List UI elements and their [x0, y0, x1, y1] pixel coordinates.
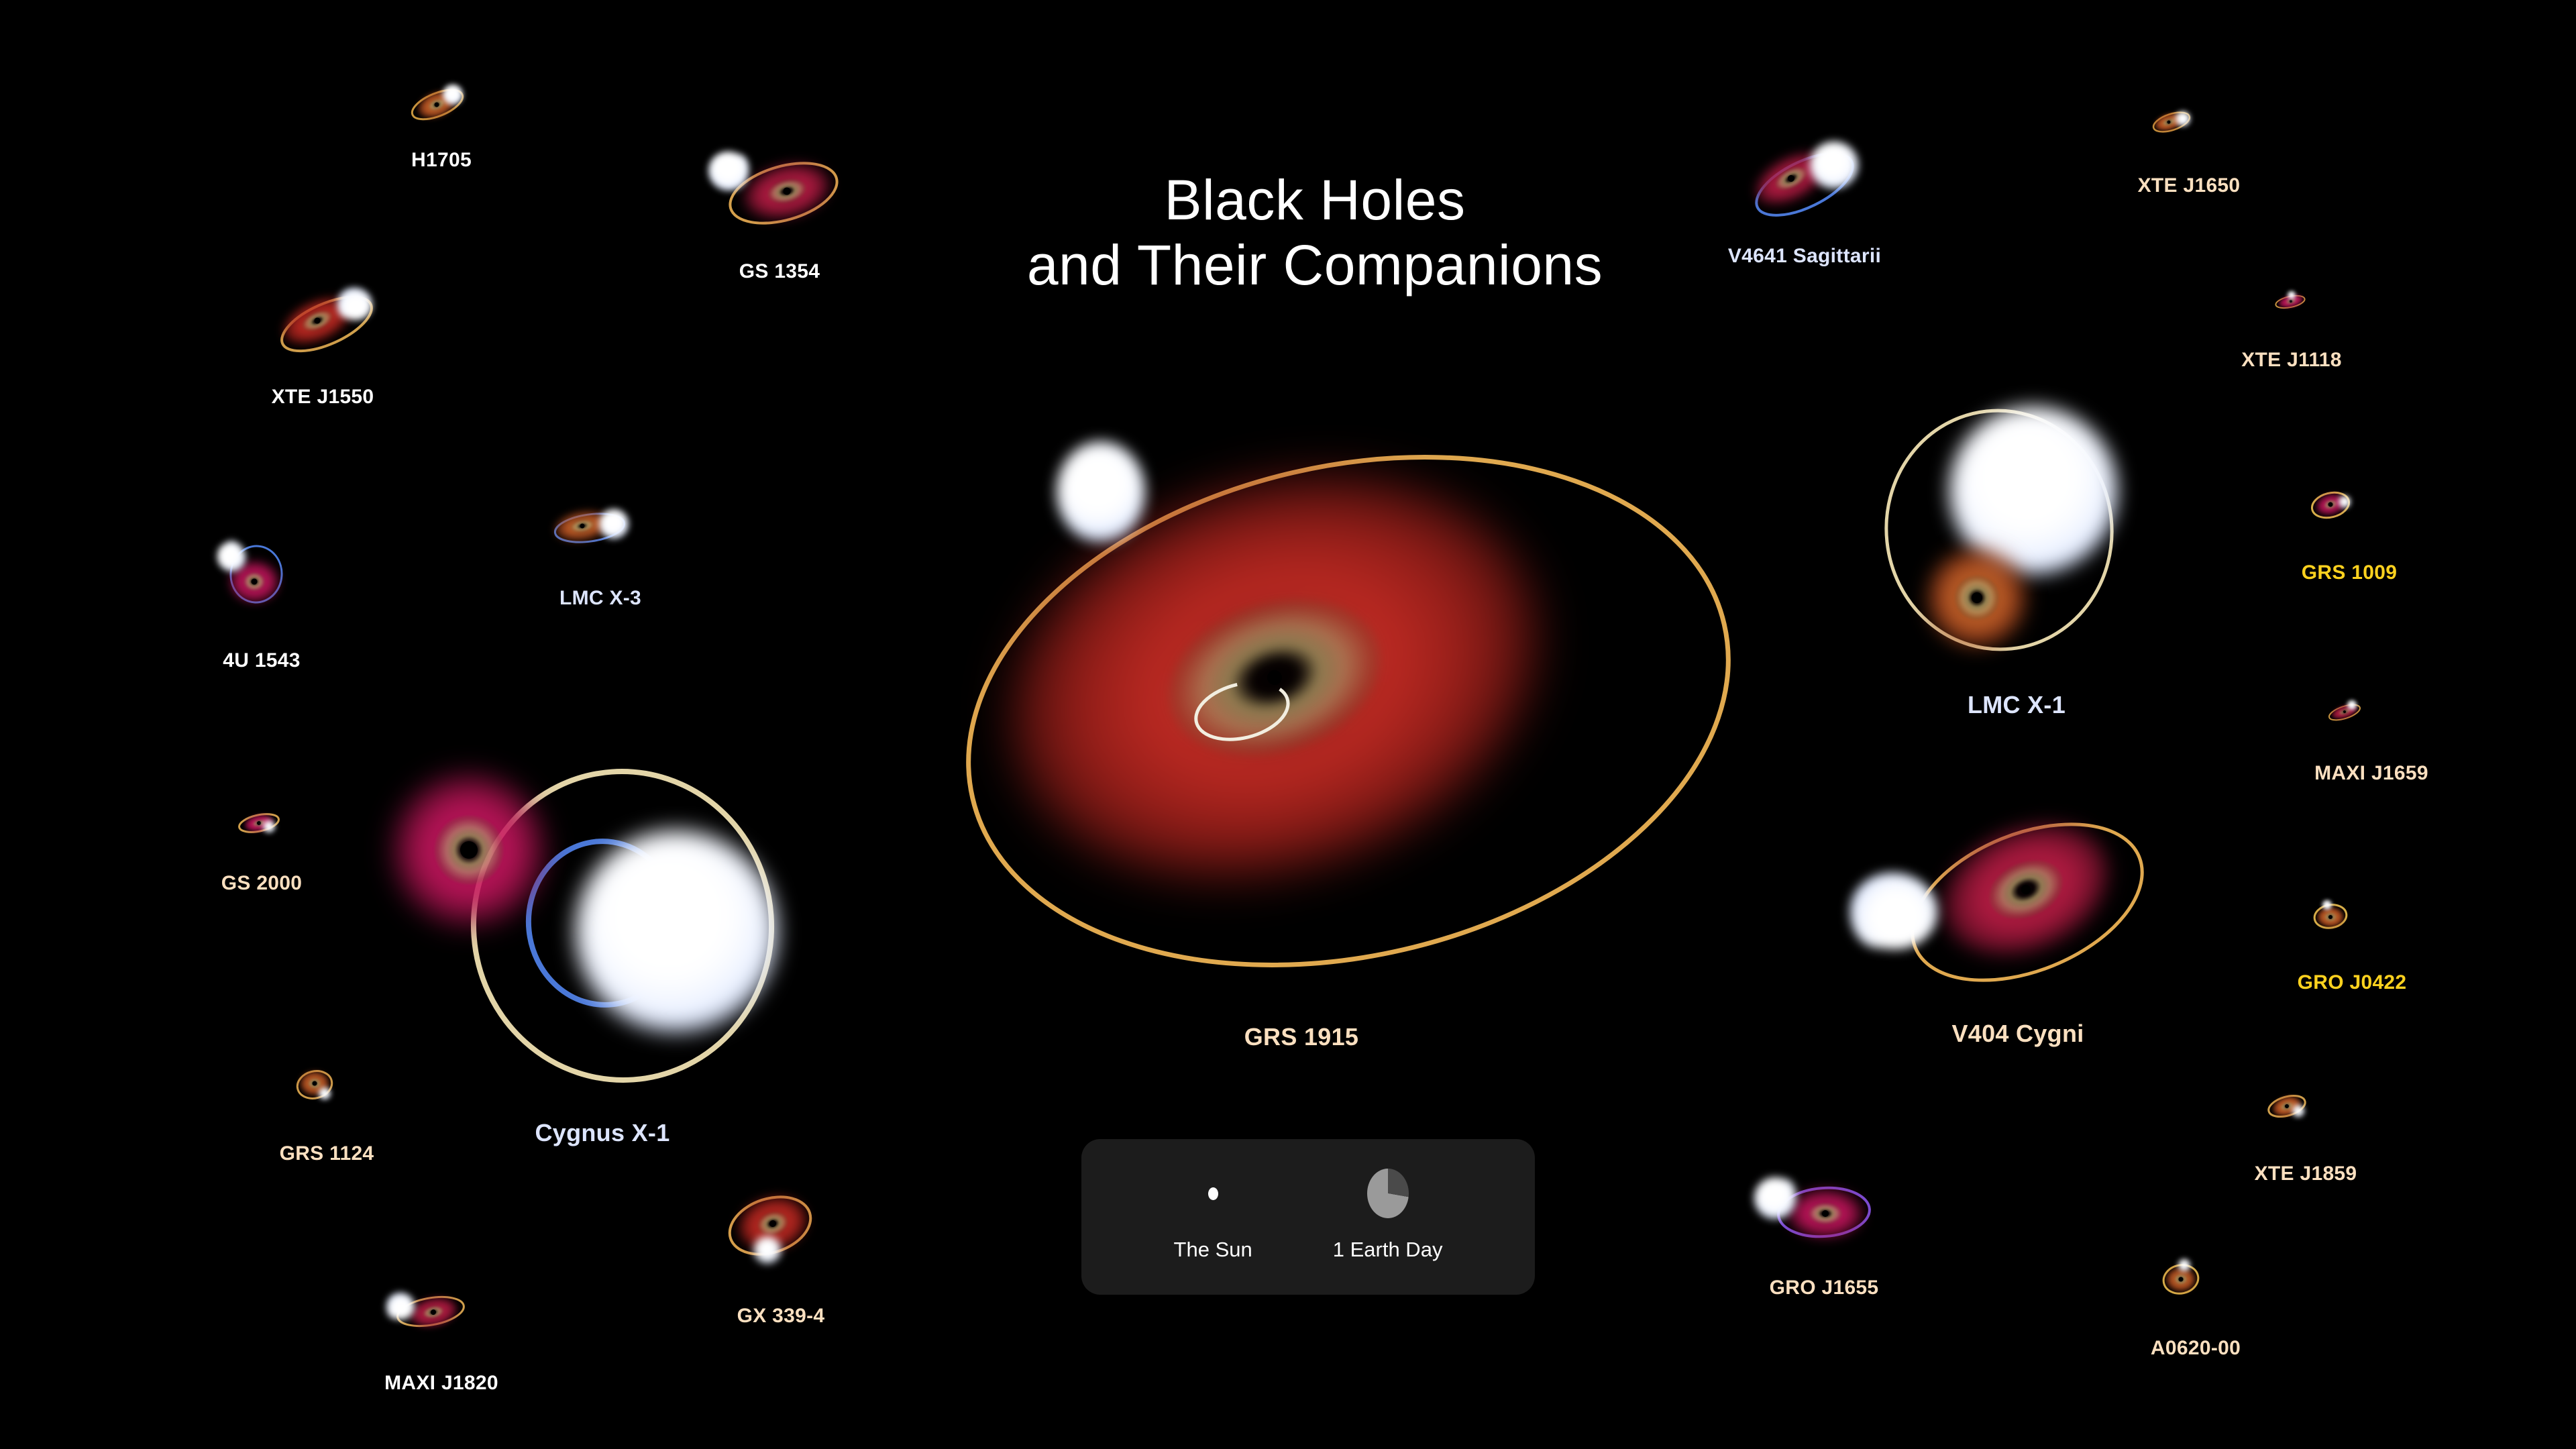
legend-item-earth-day: 1 Earth Day	[1333, 1172, 1443, 1262]
system-label: MAXI J1659	[2314, 762, 2428, 785]
system-v404-cygni[interactable]: V404 Cygni	[1831, 802, 2167, 1057]
system-xte-j1118[interactable]: XTE J1118	[2261, 282, 2341, 329]
system-label: XTE J1650	[2138, 174, 2241, 197]
scale-legend: The Sun 1 Earth Day	[1081, 1139, 1535, 1295]
companion-star	[2322, 900, 2332, 910]
legend-item-sun: The Sun	[1174, 1172, 1252, 1262]
system-label: XTE J1118	[2241, 349, 2342, 372]
accretion-disk	[1788, 1189, 1863, 1238]
orbit-arc	[2318, 691, 2398, 738]
accretion-disk	[2166, 1267, 2196, 1291]
companion-star	[319, 1087, 331, 1099]
system-label: GS 1354	[739, 260, 820, 283]
orbit-arc	[2261, 282, 2341, 329]
system-label: LMC X-3	[559, 587, 641, 610]
system-grs-1009[interactable]: GRS 1009	[2301, 480, 2388, 533]
system-lmc-x-3[interactable]: LMC X-3	[540, 493, 661, 574]
system-gro-j1655[interactable]: GRO J1655	[1748, 1171, 1902, 1278]
orbit-arc	[2301, 892, 2388, 946]
inner-orbit-arc	[885, 429, 1771, 1046]
companion-star	[754, 1236, 781, 1263]
system-label: GRO J1655	[1770, 1277, 1879, 1299]
title-line-1: Black Holes	[1164, 168, 1465, 231]
system-lmc-x-1[interactable]: LMC X-1	[1872, 396, 2140, 678]
system-gs-1354[interactable]: GS 1354	[704, 141, 859, 248]
legend-label-sun: The Sun	[1174, 1238, 1252, 1262]
system-label: GRS 1009	[2302, 561, 2397, 584]
system-label: GRO J0422	[2298, 971, 2407, 994]
companion-star	[2292, 1105, 2304, 1117]
companion-star	[443, 85, 463, 105]
system-label: GX 339-4	[737, 1305, 825, 1328]
system-label: V4641 Sagittarii	[1728, 245, 1881, 268]
system-label: LMC X-1	[1968, 691, 2065, 719]
accretion-disk	[1927, 547, 2027, 648]
system-xte-j1650[interactable]: XTE J1650	[2143, 101, 2217, 148]
system-label: GRS 1124	[280, 1142, 374, 1165]
system-cygnus-x-1[interactable]: Cygnus X-1	[382, 731, 852, 1154]
system-xte-j1859[interactable]: XTE J1859	[2257, 1083, 2345, 1137]
system-h1705[interactable]: H1705	[402, 74, 483, 127]
system-a0620-00[interactable]: A0620-00	[2150, 1251, 2237, 1311]
companion-star	[1810, 142, 1858, 189]
system-label: A0620-00	[2151, 1337, 2241, 1360]
accretion-disk	[392, 773, 546, 927]
title-line-2: and Their Companions	[1020, 233, 1610, 298]
system-4u-1543[interactable]: 4U 1543	[208, 530, 329, 624]
companion-star	[599, 509, 629, 539]
system-label: MAXI J1820	[384, 1372, 498, 1395]
system-label: Cygnus X-1	[535, 1119, 669, 1147]
system-gs-2000[interactable]: GS 2000	[228, 802, 315, 855]
system-label: 4U 1543	[223, 649, 301, 672]
system-maxi-j1659[interactable]: MAXI J1659	[2318, 691, 2398, 738]
system-label: GS 2000	[221, 872, 303, 895]
companion-star	[1057, 441, 1145, 542]
companion-star	[2288, 291, 2296, 299]
system-v4641-sagittarii[interactable]: V4641 Sagittarii	[1731, 131, 1885, 238]
sun-dot-icon	[1208, 1172, 1218, 1215]
companion-star	[263, 820, 275, 833]
system-gro-j0422[interactable]: GRO J0422	[2301, 892, 2388, 946]
system-xte-j1550[interactable]: XTE J1550	[265, 278, 406, 372]
companion-star	[576, 830, 777, 1032]
legend-label-earth-day: 1 Earth Day	[1333, 1238, 1443, 1262]
companion-star	[2178, 1259, 2190, 1271]
earth-day-pie-icon	[1367, 1172, 1409, 1215]
system-grs-1124[interactable]: GRS 1124	[285, 1057, 372, 1117]
system-gx-339-4[interactable]: GX 339-4	[716, 1184, 851, 1285]
companion-star	[2176, 111, 2190, 126]
accretion-disk	[2317, 907, 2344, 927]
companion-star	[2339, 496, 2351, 508]
page-title: Black Holes and Their Companions	[1020, 168, 1610, 299]
system-label: V404 Cygni	[1951, 1020, 2084, 1048]
system-label: XTE J1859	[2255, 1163, 2357, 1185]
system-label: GRS 1915	[1244, 1023, 1359, 1051]
system-label: H1705	[411, 149, 472, 172]
system-maxi-j1820[interactable]: MAXI J1820	[382, 1278, 503, 1358]
companion-star	[2347, 700, 2357, 710]
black-hole-infographic: Black Holes and Their Companions H1705 G…	[0, 0, 2576, 1449]
system-grs-1915[interactable]: GRS 1915	[885, 429, 1771, 1046]
system-label: XTE J1550	[272, 386, 374, 409]
